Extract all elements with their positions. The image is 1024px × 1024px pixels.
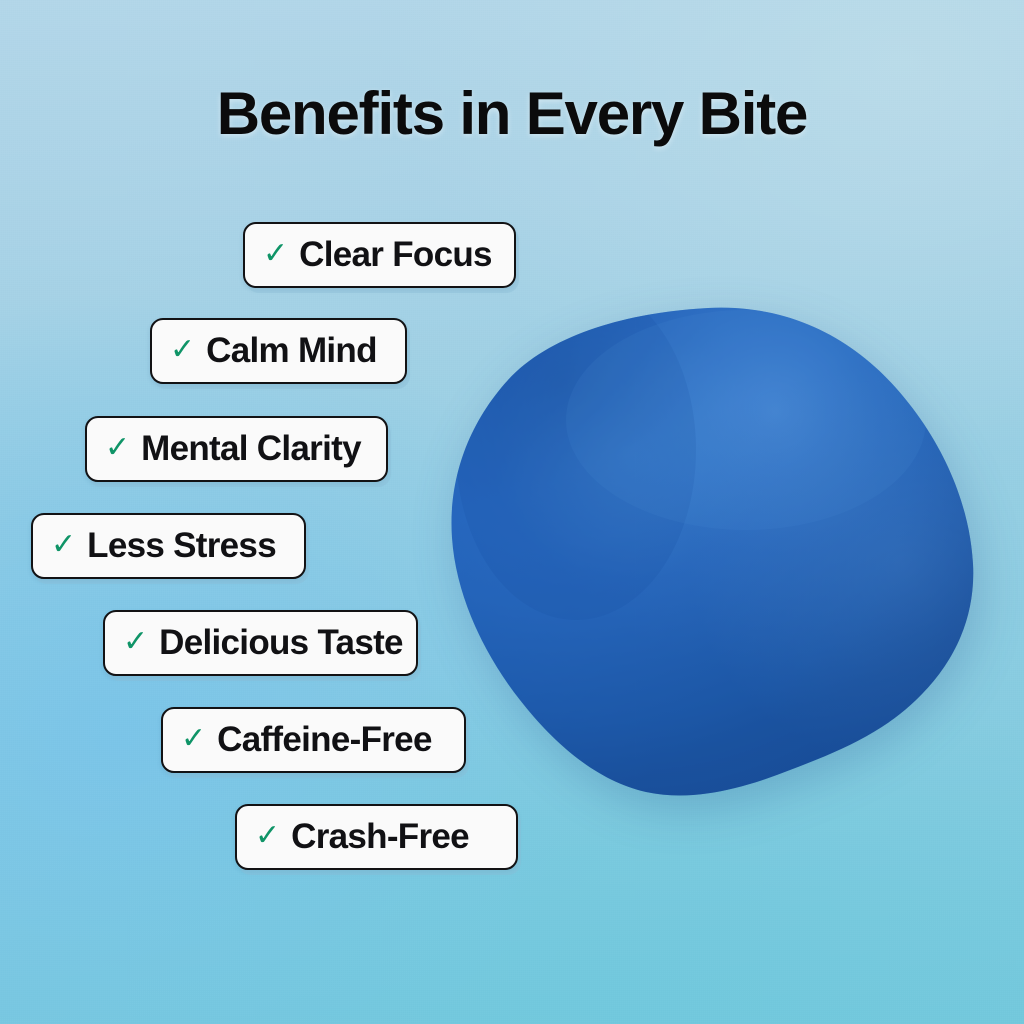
benefit-label: Mental Clarity <box>141 431 361 466</box>
check-icon: ✓ <box>105 433 130 463</box>
poster-canvas: Benefits in Every Bite <box>0 0 1024 1024</box>
benefit-pill[interactable]: ✓Crash-Free <box>235 804 518 870</box>
check-icon: ✓ <box>181 724 206 754</box>
benefit-pill[interactable]: ✓Mental Clarity <box>85 416 388 482</box>
check-icon: ✓ <box>255 821 280 851</box>
benefit-label: Caffeine-Free <box>217 722 432 757</box>
benefit-pill[interactable]: ✓Delicious Taste <box>103 610 418 676</box>
benefit-pill[interactable]: ✓Calm Mind <box>150 318 407 384</box>
check-icon: ✓ <box>170 335 195 365</box>
benefit-pill[interactable]: ✓Less Stress <box>31 513 306 579</box>
benefit-label: Less Stress <box>87 528 276 563</box>
benefit-label: Crash-Free <box>291 819 469 854</box>
benefit-pill[interactable]: ✓Caffeine-Free <box>161 707 466 773</box>
check-icon: ✓ <box>51 530 76 560</box>
check-icon: ✓ <box>123 627 148 657</box>
benefit-label: Delicious Taste <box>159 625 403 660</box>
benefit-label: Calm Mind <box>206 333 377 368</box>
page-title: Benefits in Every Bite <box>0 84 1024 144</box>
blue-blob-graphic <box>446 300 976 805</box>
benefit-label: Clear Focus <box>299 237 492 272</box>
benefit-pill[interactable]: ✓Clear Focus <box>243 222 516 288</box>
check-icon: ✓ <box>263 239 288 269</box>
